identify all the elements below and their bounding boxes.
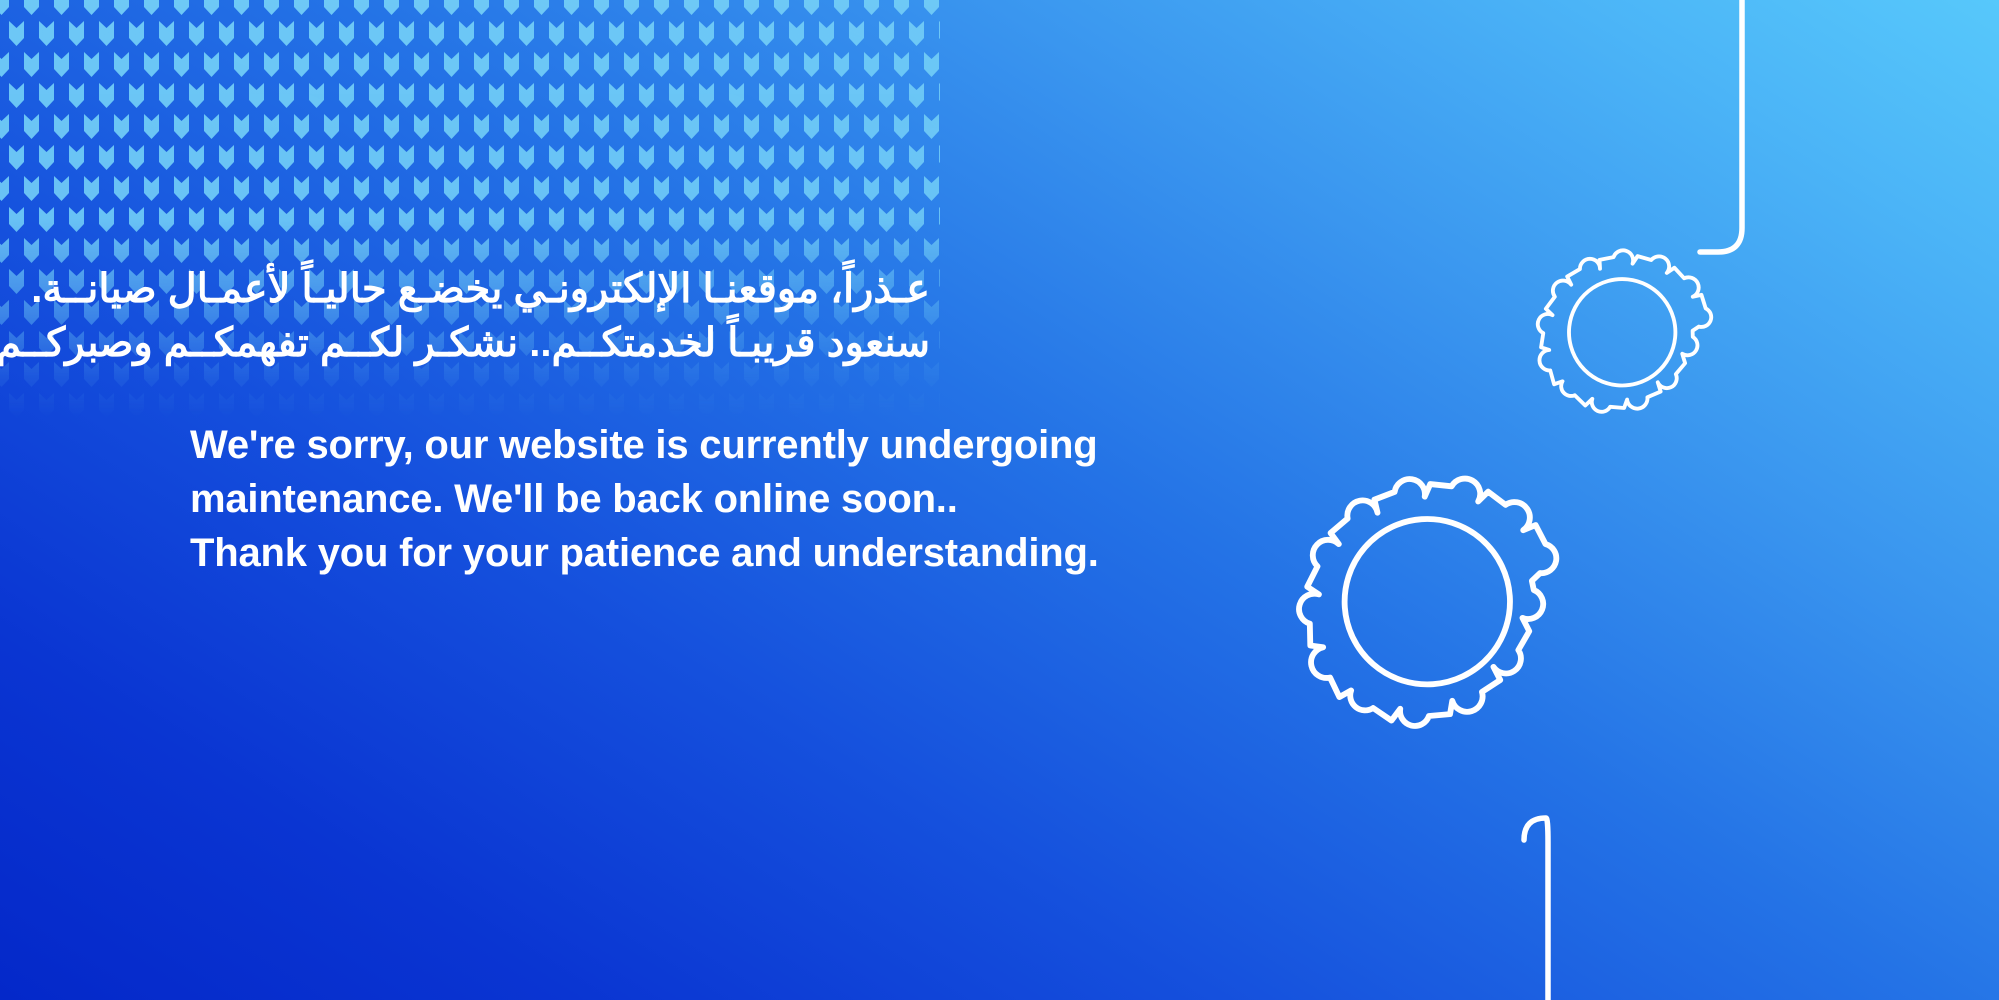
connector-line-top — [1700, 0, 1742, 252]
arabic-message: عـذراً، موقعنـا الإلكترونـي يخضـع حاليـا… — [190, 262, 930, 370]
arabic-message-line-2: سنعود قريبـاً لخدمتكــم.. نشكـر لكــم تف… — [190, 316, 930, 370]
maintenance-page: عـذراً، موقعنـا الإلكترونـي يخضـع حاليـا… — [0, 0, 1999, 1000]
english-message-line-3: Thank you for your patience and understa… — [190, 526, 1190, 580]
english-message-line-1: We're sorry, our website is currently un… — [190, 418, 1190, 472]
maintenance-message: عـذراً، موقعنـا الإلكترونـي يخضـع حاليـا… — [190, 262, 1190, 580]
connector-line-bottom — [1524, 818, 1548, 1000]
english-message: We're sorry, our website is currently un… — [190, 418, 1190, 580]
arabic-message-line-1: عـذراً، موقعنـا الإلكترونـي يخضـع حاليـا… — [190, 262, 930, 316]
english-message-line-2: maintenance. We'll be back online soon.. — [190, 472, 1190, 526]
